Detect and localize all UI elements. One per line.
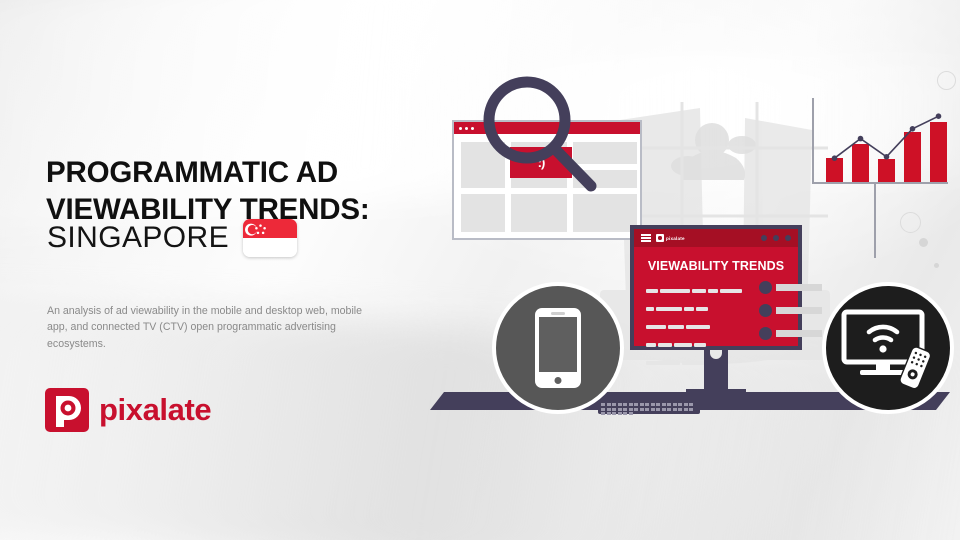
bullet-dot-icon xyxy=(759,327,772,340)
presentation-slide: PROGRAMMATIC AD VIEWABILITY TRENDS: SING… xyxy=(0,0,960,540)
chart-stem-line xyxy=(874,184,876,258)
pixalate-logo-mark-small xyxy=(656,234,664,242)
hamburger-menu-icon[interactable] xyxy=(641,234,651,242)
pixalate-logo-mark xyxy=(45,388,89,432)
pixalate-logo: pixalate xyxy=(45,388,211,432)
pixalate-wordmark-small: pixalate xyxy=(666,236,685,241)
phone-speaker xyxy=(551,312,565,315)
desktop-monitor: pixalate VIEWABILITY TRENDS xyxy=(630,225,802,350)
chart-y-axis xyxy=(812,98,814,184)
screen-dots-group xyxy=(761,235,791,241)
browser-dot-icon xyxy=(471,127,474,130)
bullet-item xyxy=(759,304,822,317)
country-row: SINGAPORE xyxy=(47,219,297,257)
page-title: PROGRAMMATIC AD VIEWABILITY TRENDS: xyxy=(46,154,446,228)
chart-bar xyxy=(878,159,895,182)
screen-pixalate-logo: pixalate xyxy=(656,234,685,242)
chart-bar xyxy=(852,144,869,183)
content-block xyxy=(511,194,567,232)
content-block xyxy=(573,194,637,232)
bullet-item xyxy=(759,327,822,340)
chart-bar xyxy=(904,132,921,182)
screen-dot-icon xyxy=(773,235,779,241)
content-block xyxy=(461,194,505,232)
headline-line-1: PROGRAMMATIC AD xyxy=(46,156,338,189)
pixalate-wordmark: pixalate xyxy=(99,392,211,428)
connected-tv-badge xyxy=(822,282,954,414)
bullet-dot-icon xyxy=(759,281,772,294)
chart-bar xyxy=(930,122,947,182)
tv-wifi-icon xyxy=(836,304,940,392)
flag-crescent-stars xyxy=(243,219,297,257)
country-name: SINGAPORE xyxy=(47,221,229,255)
mobile-phone-badge xyxy=(492,282,624,414)
bullet-bar xyxy=(776,284,822,291)
screen-bullet-list xyxy=(759,281,822,350)
smartphone-icon xyxy=(535,308,581,388)
singapore-flag-icon xyxy=(243,219,297,257)
screen-dot-icon xyxy=(761,235,767,241)
screen-dot-icon xyxy=(785,235,791,241)
monitor-screen: pixalate VIEWABILITY TRENDS xyxy=(630,225,802,350)
browser-dot-icon xyxy=(459,127,462,130)
monitor-stand-foot xyxy=(686,389,746,394)
magnifying-glass-icon xyxy=(475,70,600,195)
screen-header-bar: pixalate xyxy=(634,229,798,247)
chart-x-axis xyxy=(812,182,948,184)
bullet-bar xyxy=(776,307,822,314)
bar-chart xyxy=(812,98,952,198)
screen-title: VIEWABILITY TRENDS xyxy=(634,259,798,273)
phone-home-button xyxy=(555,377,562,384)
hero-illustration: :) pixalate xyxy=(430,60,960,460)
phone-screen xyxy=(539,317,577,372)
subtitle-paragraph: An analysis of ad viewability in the mob… xyxy=(47,303,377,353)
browser-dot-icon xyxy=(465,127,468,130)
bullet-dot-icon xyxy=(759,304,772,317)
bullet-bar xyxy=(776,330,822,337)
bullet-item xyxy=(759,281,822,294)
chart-bar xyxy=(826,158,843,182)
pixalate-p-glyph xyxy=(45,388,89,432)
keyboard xyxy=(598,400,700,414)
